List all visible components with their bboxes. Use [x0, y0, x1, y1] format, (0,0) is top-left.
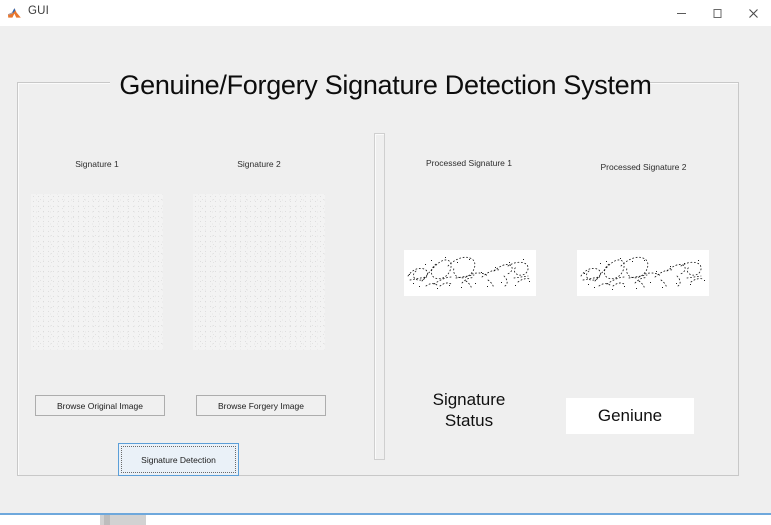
- figure-canvas: Genuine/Forgery Signature Detection Syst…: [0, 26, 771, 513]
- signature-status-label-line-2: Status: [404, 410, 534, 431]
- paper-texture: [193, 194, 325, 350]
- signature-status-value-text: Geniune: [598, 406, 662, 426]
- label-signature-1: Signature 1: [31, 159, 163, 169]
- signature-status-label-line-1: Signature: [404, 389, 534, 410]
- label-processed-signature-2: Processed Signature 2: [577, 162, 710, 172]
- signature-status-value: Geniune: [566, 398, 694, 434]
- window-controls: [663, 0, 771, 26]
- signature-1-image[interactable]: [31, 194, 163, 350]
- label-signature-2: Signature 2: [193, 159, 325, 169]
- page-title: Genuine/Forgery Signature Detection Syst…: [0, 70, 771, 101]
- processed-signature-2-image[interactable]: [577, 250, 709, 296]
- taskbar-tab-notch: [104, 515, 110, 525]
- matlab-icon: [7, 6, 22, 20]
- paper-texture: [31, 194, 163, 350]
- matlab-gui-window: GUI Genuine/Forgery Signature Detection …: [0, 0, 771, 525]
- label-processed-signature-1: Processed Signature 1: [404, 158, 534, 168]
- signature-detection-button[interactable]: Signature Detection: [118, 443, 239, 476]
- processed-signature-1-pixels: [404, 250, 536, 296]
- title-bar: GUI: [0, 0, 771, 27]
- close-button[interactable]: [735, 0, 771, 26]
- panel-divider: [374, 133, 385, 460]
- processed-signature-1-image[interactable]: [404, 250, 536, 296]
- signature-status-label: Signature Status: [404, 389, 534, 431]
- browse-forgery-image-button[interactable]: Browse Forgery Image: [196, 395, 326, 416]
- window-title: GUI: [28, 5, 49, 17]
- browse-original-image-button[interactable]: Browse Original Image: [35, 395, 165, 416]
- maximize-button[interactable]: [699, 0, 735, 26]
- signature-2-image[interactable]: [193, 194, 325, 350]
- minimize-button[interactable]: [663, 0, 699, 26]
- signature-detection-button-label: Signature Detection: [141, 455, 216, 465]
- processed-signature-2-pixels: [577, 250, 709, 296]
